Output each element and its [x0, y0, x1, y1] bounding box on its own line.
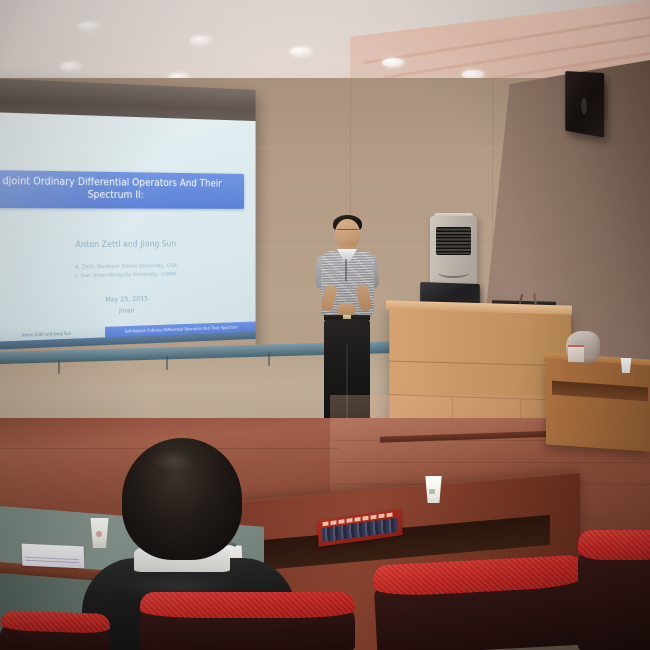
auditorium-chair: [373, 555, 587, 650]
projection-screen: Introduction Background Main Methods Mai…: [0, 78, 256, 360]
auditorium-chair: [0, 610, 111, 650]
chair-headrest: [578, 530, 650, 560]
slide-title-bar: djoint Ordinary Differential Operators A…: [0, 170, 244, 209]
cup-logo-icon: [429, 489, 435, 494]
boxed-item: [568, 345, 584, 362]
note-papers: [22, 544, 85, 569]
wall-speaker-icon: [565, 71, 604, 138]
paper-edge-line: [25, 560, 79, 563]
dado-peg: [166, 356, 168, 370]
hair-highlight: [152, 450, 194, 472]
presenter-head: [335, 219, 360, 249]
speaker-cone-icon: [581, 98, 587, 115]
downlight-icon: [290, 47, 312, 56]
slide-authors: Anton Zettl and Jiong Sun: [0, 238, 256, 250]
slide-title-line2: Spectrum II:: [0, 188, 237, 202]
presenter-placket: [345, 259, 347, 281]
side-table: [546, 358, 650, 451]
chair-headrest: [140, 592, 355, 618]
downlight-icon: [78, 22, 100, 31]
ac-vent-icon: [438, 268, 469, 278]
downlight-icon: [382, 58, 404, 67]
lecture-hall-photo: Introduction Background Main Methods Mai…: [0, 0, 650, 650]
slide-date-place: May 25, 2015 Jinan: [0, 291, 256, 321]
auditorium-chair: [140, 592, 355, 650]
ac-grille-icon: [436, 227, 471, 255]
dado-peg: [268, 352, 270, 366]
glasses-icon: [337, 229, 358, 234]
presentation-slide: Introduction Background Main Methods Mai…: [0, 112, 256, 342]
auditorium-chair: [578, 530, 650, 650]
downlight-icon: [60, 62, 82, 71]
dado-peg: [58, 360, 60, 374]
slide-affiliations: A. Zettl: Northern Illinois University, …: [0, 261, 256, 283]
chair-back: [578, 548, 650, 650]
downlight-icon: [190, 36, 212, 45]
slide-title-line1: djoint Ordinary Differential Operators A…: [0, 175, 237, 191]
